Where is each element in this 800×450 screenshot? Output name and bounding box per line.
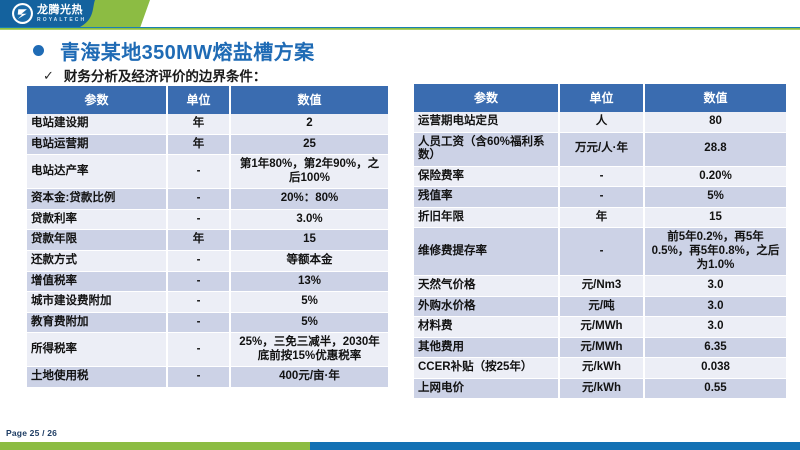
cell-param: 电站建设期 [27,114,167,134]
cell-value: 13% [230,271,388,292]
table-row: 残值率-5% [414,187,786,208]
bullet-dot-icon [33,45,44,56]
table-row: 增值税率-13% [27,271,388,292]
logo-chinese-name: 龙腾光热 [37,5,86,16]
table-row: 贷款利率-3.0% [27,209,388,230]
cell-unit: 元/kWh [559,358,644,379]
column-header-param: 参数 [27,86,167,114]
cell-unit: - [167,155,230,189]
cell-param: 折旧年限 [414,207,559,228]
page-title: 青海某地350MW熔盐槽方案 [60,36,315,65]
cell-param: 教育费附加 [27,312,167,333]
footer-color-bar [0,442,800,450]
table-row: 折旧年限年15 [414,207,786,228]
boundary-conditions-table-left: 参数 单位 数值 电站建设期年2电站运营期年25电站达产率-第1年80%，第2年… [27,86,388,388]
cell-value: 15 [230,230,388,251]
cell-param: 城市建设费附加 [27,292,167,313]
table-row: 外购水价格元/吨3.0 [414,296,786,317]
cell-param: 所得税率 [27,333,167,367]
cell-value: 0.55 [644,378,786,399]
cell-param: 外购水价格 [414,296,559,317]
cell-unit: - [559,228,644,276]
column-header-value: 数值 [644,84,786,112]
cell-unit: - [559,166,644,187]
cell-unit: 万元/人·年 [559,132,644,166]
table-row: 电站建设期年2 [27,114,388,134]
header-divider-rule [0,27,800,30]
cell-value: 6.35 [644,337,786,358]
cell-value: 3.0 [644,296,786,317]
cell-value: 等额本金 [230,250,388,271]
cell-unit: - [167,312,230,333]
table-row: 人员工资（含60%福利系数）万元/人·年28.8 [414,132,786,166]
cell-unit: 元/MWh [559,317,644,338]
table-row: 运营期电站定员人80 [414,112,786,132]
cell-param: 电站达产率 [27,155,167,189]
cell-param: 资本金:贷款比例 [27,189,167,210]
cell-value: 25%，三免三减半，2030年底前按15%优惠税率 [230,333,388,367]
cell-param: 人员工资（含60%福利系数） [414,132,559,166]
cell-unit: 元/吨 [559,296,644,317]
slide-header: 龙腾光热 ROYALTECH [0,0,800,30]
cell-value: 第1年80%，第2年90%，之后100% [230,155,388,189]
footer-bar-green-segment [0,442,310,450]
cell-unit: 年 [167,114,230,134]
column-header-value: 数值 [230,86,388,114]
cell-value: 3.0 [644,276,786,297]
cell-value: 5% [644,187,786,208]
column-header-unit: 单位 [167,86,230,114]
cell-unit: - [167,209,230,230]
cell-value: 5% [230,312,388,333]
cell-value: 20%：80% [230,189,388,210]
cell-value: 3.0 [644,317,786,338]
cell-param: 天然气价格 [414,276,559,297]
cell-param: 材料费 [414,317,559,338]
slide-subtitle-row: ✓ 财务分析及经济评价的边界条件： [43,65,266,85]
cell-unit: - [559,187,644,208]
cell-value: 25 [230,134,388,155]
cell-unit: 年 [559,207,644,228]
cell-unit: - [167,250,230,271]
table-row: 维修费提存率-前5年0.2%，再5年0.5%，再5年0.8%，之后为1.0% [414,228,786,276]
table-row: 天然气价格元/Nm33.0 [414,276,786,297]
cell-param: 保险费率 [414,166,559,187]
brand-logo: 龙腾光热 ROYALTECH [12,3,86,24]
cell-param: 还款方式 [27,250,167,271]
table-row: 材料费元/MWh3.0 [414,317,786,338]
cell-param: 上网电价 [414,378,559,399]
cell-param: 贷款年限 [27,230,167,251]
header-banner-shape [0,0,800,30]
cell-param: 土地使用税 [27,367,167,388]
boundary-conditions-table-right: 参数 单位 数值 运营期电站定员人80人员工资（含60%福利系数）万元/人·年2… [414,84,786,399]
slide-title-row: 青海某地350MW熔盐槽方案 [33,36,315,65]
cell-unit: - [167,189,230,210]
cell-value: 5% [230,292,388,313]
column-header-unit: 单位 [559,84,644,112]
table-header-row: 参数 单位 数值 [414,84,786,112]
footer-bar-blue-segment [310,442,800,450]
table-row: CCER补贴（按25年）元/kWh0.038 [414,358,786,379]
table-row: 上网电价元/kWh0.55 [414,378,786,399]
check-icon: ✓ [43,69,54,82]
cell-param: 运营期电站定员 [414,112,559,132]
page-number: Page 25 / 26 [6,428,57,438]
cell-param: CCER补贴（按25年） [414,358,559,379]
table-row: 土地使用税-400元/亩·年 [27,367,388,388]
cell-param: 贷款利率 [27,209,167,230]
table-row: 资本金:贷款比例-20%：80% [27,189,388,210]
table-header-row: 参数 单位 数值 [27,86,388,114]
cell-value: 0.20% [644,166,786,187]
cell-param: 残值率 [414,187,559,208]
cell-unit: - [167,271,230,292]
cell-unit: 年 [167,230,230,251]
table-row: 保险费率-0.20% [414,166,786,187]
cell-unit: 元/Nm3 [559,276,644,297]
cell-value: 2 [230,114,388,134]
table-row: 城市建设费附加-5% [27,292,388,313]
cell-value: 400元/亩·年 [230,367,388,388]
table-row: 电站达产率-第1年80%，第2年90%，之后100% [27,155,388,189]
table-row: 所得税率-25%，三免三减半，2030年底前按15%优惠税率 [27,333,388,367]
cell-value: 前5年0.2%，再5年0.5%，再5年0.8%，之后为1.0% [644,228,786,276]
cell-unit: - [167,333,230,367]
table-row: 教育费附加-5% [27,312,388,333]
cell-unit: 元/MWh [559,337,644,358]
cell-param: 电站运营期 [27,134,167,155]
cell-value: 80 [644,112,786,132]
cell-param: 维修费提存率 [414,228,559,276]
cell-unit: - [167,292,230,313]
logo-english-name: ROYALTECH [37,18,86,23]
cell-unit: 元/kWh [559,378,644,399]
column-header-param: 参数 [414,84,559,112]
cell-unit: - [167,367,230,388]
cell-unit: 年 [167,134,230,155]
cell-param: 其他费用 [414,337,559,358]
cell-unit: 人 [559,112,644,132]
table-row: 贷款年限年15 [27,230,388,251]
table-row: 电站运营期年25 [27,134,388,155]
cell-value: 15 [644,207,786,228]
slide-subtitle: 财务分析及经济评价的边界条件： [64,65,267,85]
table-row: 还款方式-等额本金 [27,250,388,271]
cell-value: 3.0% [230,209,388,230]
cell-value: 0.038 [644,358,786,379]
cell-param: 增值税率 [27,271,167,292]
royaltech-circle-logo-icon [12,3,33,24]
table-row: 其他费用元/MWh6.35 [414,337,786,358]
cell-value: 28.8 [644,132,786,166]
